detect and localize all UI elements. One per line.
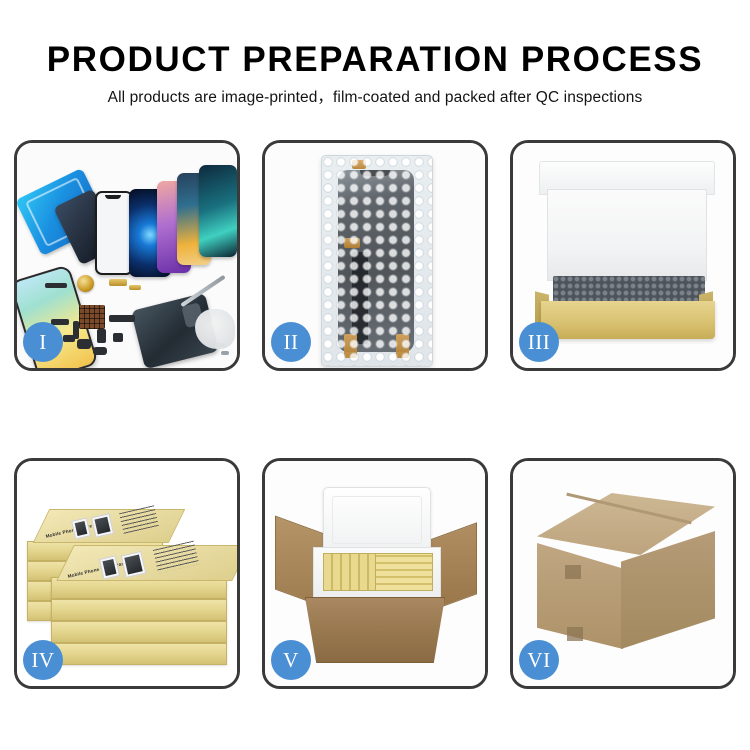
process-step-4: Mobile Phone Spare Parts Mobile Phone Sp…	[14, 458, 240, 689]
step-badge-3: III	[519, 322, 559, 362]
small-part	[109, 315, 135, 322]
small-part	[109, 279, 127, 286]
carton-tape	[565, 565, 581, 579]
stacked-box	[51, 643, 227, 665]
small-part	[51, 319, 69, 325]
product-preparation-infographic: PRODUCT PREPARATION PROCESS All products…	[0, 0, 750, 750]
carton-front-panel	[305, 597, 445, 663]
chip-board-part	[79, 305, 105, 329]
small-part	[221, 351, 229, 355]
foam-cooler-lid	[323, 487, 431, 553]
stacked-box	[51, 599, 227, 621]
white-frame-glass	[95, 191, 133, 275]
header: PRODUCT PREPARATION PROCESS All products…	[0, 0, 750, 108]
step-badge-4: IV	[23, 640, 63, 680]
small-part	[113, 333, 123, 342]
small-part	[77, 339, 91, 349]
kraft-box-front	[541, 301, 715, 339]
stacked-box	[51, 621, 227, 643]
small-part	[73, 321, 79, 339]
box-lid-face	[547, 189, 707, 281]
bubble-texture	[322, 156, 432, 366]
step-badge-6: VI	[519, 640, 559, 680]
teal-gradient-screen	[199, 165, 237, 257]
page-subtitle: All products are image-printed，film-coat…	[0, 88, 750, 108]
process-step-grid: I II	[14, 140, 736, 689]
protective-foam	[553, 276, 705, 302]
carton-tape	[567, 627, 583, 641]
step-badge-1: I	[23, 322, 63, 362]
process-step-6: VI	[510, 458, 736, 689]
process-step-1: I	[14, 140, 240, 371]
bubble-wrap-bag	[321, 155, 433, 367]
step-badge-2: II	[271, 322, 311, 362]
yellow-boxes-row	[375, 553, 433, 591]
process-step-2: II	[262, 140, 488, 371]
step-badge-5: V	[271, 640, 311, 680]
small-part	[45, 283, 67, 288]
gold-coil-part	[77, 275, 94, 292]
small-part	[93, 347, 107, 355]
page-title: PRODUCT PREPARATION PROCESS	[0, 40, 750, 80]
hand	[195, 309, 235, 349]
small-part	[129, 285, 141, 290]
small-part	[97, 329, 106, 343]
process-step-3: III	[510, 140, 736, 371]
printed-box-lid	[56, 545, 237, 581]
process-step-5: V	[262, 458, 488, 689]
